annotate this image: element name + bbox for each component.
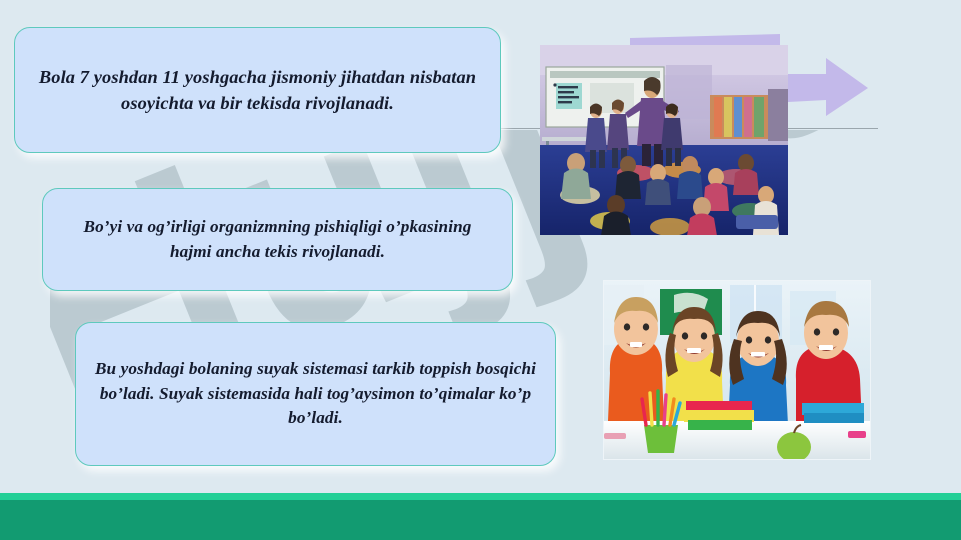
classroom-photo	[540, 45, 788, 235]
pupils-photo	[604, 281, 870, 459]
callout-box-2: Bo’yi va og’irligi organizmning pishiqli…	[42, 188, 513, 291]
bottom-accent-stripe	[0, 493, 961, 500]
slide-canvas: Hujjat Bola 7 yoshdan 11 yoshgacha jismo…	[0, 0, 961, 540]
callout-1-text: Bola 7 yoshdan 11 yoshgacha jismoniy jih…	[33, 64, 482, 116]
bottom-footer-bar	[0, 500, 961, 540]
callout-2-text: Bo’yi va og’irligi organizmning pishiqli…	[61, 215, 494, 264]
callout-box-1: Bola 7 yoshdan 11 yoshgacha jismoniy jih…	[14, 27, 501, 153]
callout-3-text: Bu yoshdagi bolaning suyak sistemasi tar…	[94, 357, 537, 430]
callout-box-3: Bu yoshdagi bolaning suyak sistemasi tar…	[75, 322, 556, 466]
